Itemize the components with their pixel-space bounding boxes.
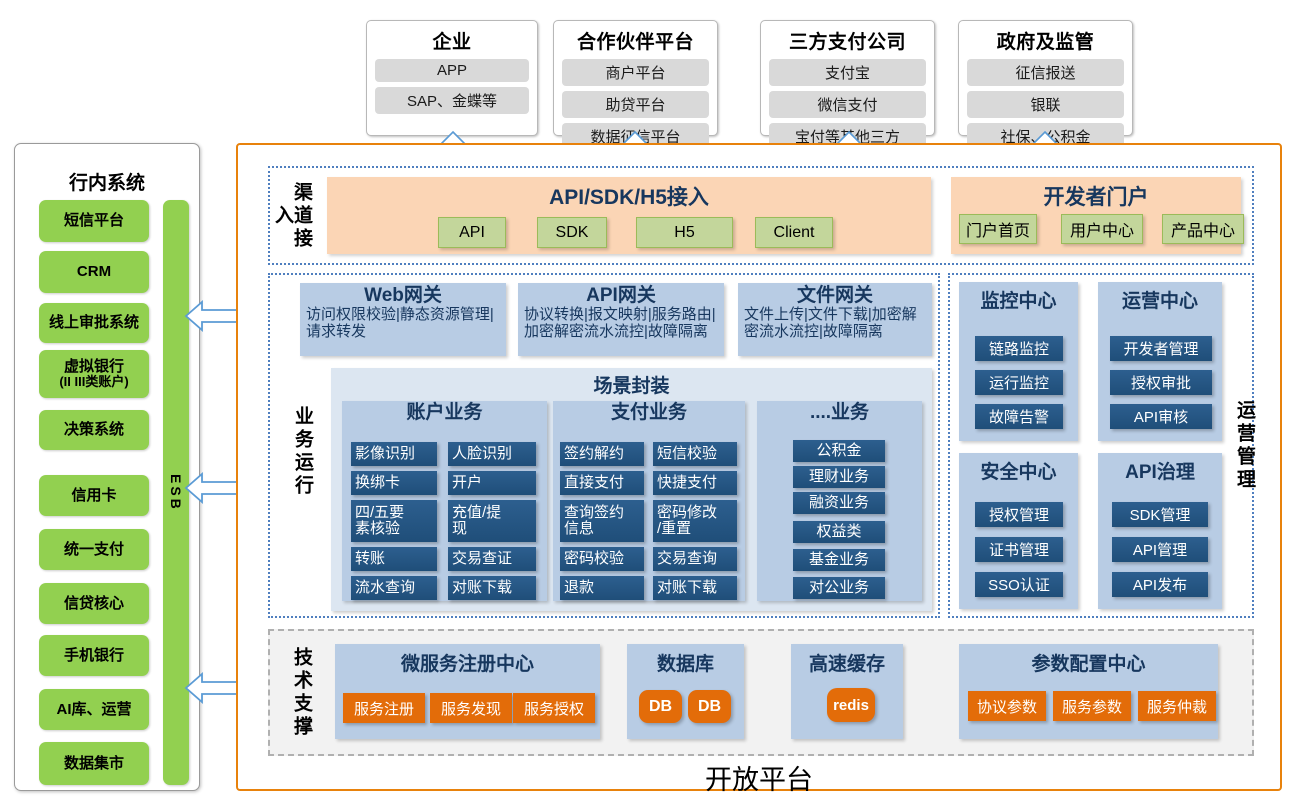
external-system-item: 支付宝 xyxy=(769,59,926,86)
bank-system-label: 虚拟银行 xyxy=(64,359,124,375)
business-chip-label: 权益类 xyxy=(816,524,861,540)
external-system-title: 三方支付公司 xyxy=(789,27,906,54)
tech-chip-label: 服务授权 xyxy=(524,698,584,719)
ops-chip-label: 故障告警 xyxy=(989,406,1049,427)
external-system-enterprise: 企业 APP SAP、金蝶等 xyxy=(366,20,538,136)
bank-system-label: AI库、运营 xyxy=(56,702,131,718)
business-chip[interactable]: 换绑卡 xyxy=(351,471,437,495)
gateway-desc: 访问权限校验|静态资源管理|请求转发 xyxy=(306,307,500,341)
bank-system-item[interactable]: 手机银行 xyxy=(39,635,149,676)
business-chip[interactable]: 密码校验 xyxy=(560,547,644,571)
business-chip[interactable]: 影像识别 xyxy=(351,442,437,466)
bank-system-label: 统一支付 xyxy=(64,542,124,558)
channel-chip-label: API xyxy=(459,224,485,242)
ops-card-title: 安全中心 xyxy=(959,453,1078,484)
business-chip[interactable]: 密码修改 /重置 xyxy=(653,500,737,542)
business-chip-label: 对公业务 xyxy=(809,580,869,596)
tech-chip-label: 服务注册 xyxy=(354,698,414,719)
tech-card-title: 微服务注册中心 xyxy=(335,644,600,676)
business-chip-label: 签约解约 xyxy=(564,446,624,462)
ops-chip-label: 开发者管理 xyxy=(1123,338,1198,359)
ops-chip-label: SSO认证 xyxy=(988,574,1050,595)
tech-chip[interactable]: 服务参数 xyxy=(1053,691,1131,721)
ops-chip-label: 链路监控 xyxy=(989,338,1049,359)
scene-encapsulation-title: 场景封装 xyxy=(331,368,932,398)
business-chip[interactable]: 理财业务 xyxy=(793,466,885,488)
business-chip[interactable]: 对公业务 xyxy=(793,577,885,599)
external-system-title: 企业 xyxy=(432,27,471,54)
architecture-diagram: 企业 APP SAP、金蝶等 合作伙伴平台 商户平台 助贷平台 数据征信平台 三… xyxy=(0,0,1299,799)
channel-chip-label: SDK xyxy=(556,224,589,242)
external-system-title: 政府及监管 xyxy=(997,27,1095,54)
business-chip[interactable]: 快捷支付 xyxy=(653,471,737,495)
tech-card-microservice-registry: 微服务注册中心 xyxy=(335,644,600,739)
business-group-title: ....业务 xyxy=(757,401,922,424)
portal-chip-home[interactable]: 门户首页 xyxy=(959,214,1037,244)
gateway-title: Web网关 xyxy=(306,286,500,307)
business-chip[interactable]: 公积金 xyxy=(793,440,885,462)
ops-management-label: 运营管理 xyxy=(1224,398,1254,493)
channel-access-label: 渠道接入 xyxy=(281,172,311,260)
db-label: DB xyxy=(649,698,672,716)
bank-system-item[interactable]: 线上审批系统 xyxy=(39,303,149,343)
ops-chip[interactable]: 证书管理 xyxy=(975,537,1063,562)
business-chip-label: 对账下载 xyxy=(657,580,717,596)
business-chip-label: 融资业务 xyxy=(809,495,869,511)
business-chip[interactable]: 对账下载 xyxy=(448,576,536,600)
bank-system-item[interactable]: 统一支付 xyxy=(39,529,149,570)
tech-card-title: 参数配置中心 xyxy=(959,644,1218,676)
redis-label: redis xyxy=(833,697,869,714)
external-system-item: APP xyxy=(375,59,529,82)
tech-card-title: 数据库 xyxy=(627,644,744,676)
business-chip[interactable]: 对账下载 xyxy=(653,576,737,600)
business-chip[interactable]: 退款 xyxy=(560,576,644,600)
business-chip-label: 快捷支付 xyxy=(657,475,717,491)
ops-chip[interactable]: 故障告警 xyxy=(975,404,1063,429)
ops-chip-label: SDK管理 xyxy=(1130,504,1191,525)
ops-chip-label: 证书管理 xyxy=(989,539,1049,560)
bank-system-sublabel: (II III类账户) xyxy=(59,375,128,389)
external-system-item: 商户平台 xyxy=(562,59,709,86)
bank-system-item[interactable]: CRM xyxy=(39,251,149,293)
portal-chip-label: 门户首页 xyxy=(966,217,1030,241)
bank-system-item[interactable]: AI库、运营 xyxy=(39,689,149,730)
bank-system-label: 信贷核心 xyxy=(64,596,124,612)
bank-system-item[interactable]: 决策系统 xyxy=(39,410,149,450)
tech-support-label: 技术支撑 xyxy=(281,640,311,745)
business-chip-label: 理财业务 xyxy=(809,469,869,485)
business-chip[interactable]: 签约解约 xyxy=(560,442,644,466)
bank-system-label: 线上审批系统 xyxy=(49,315,139,331)
external-system-item: 银联 xyxy=(967,91,1124,118)
bank-system-label: 信用卡 xyxy=(71,488,116,504)
gateway-api: API网关 协议转换|报文映射|服务路由|加密解密流水流控|故障隔离 xyxy=(518,283,724,356)
page-title: 开放平台 xyxy=(236,758,1282,797)
portal-chip-product-center[interactable]: 产品中心 xyxy=(1162,214,1244,244)
external-system-partner-platform: 合作伙伴平台 商户平台 助贷平台 数据征信平台 xyxy=(553,20,718,136)
business-chip-label: 交易查证 xyxy=(452,551,512,567)
business-chip[interactable]: 人脸识别 xyxy=(448,442,536,466)
database-icon[interactable]: DB xyxy=(639,690,682,723)
bank-system-item[interactable]: 虚拟银行 (II III类账户) xyxy=(39,350,149,398)
channel-chip-client[interactable]: Client xyxy=(755,217,833,248)
tech-chip[interactable]: 服务发现 xyxy=(430,693,512,723)
business-chip-label: 人脸识别 xyxy=(452,446,512,462)
external-system-item: 微信支付 xyxy=(769,91,926,118)
tech-chip[interactable]: 服务授权 xyxy=(513,693,595,723)
ops-chip-label: API审核 xyxy=(1134,406,1188,427)
tech-chip[interactable]: 服务仲裁 xyxy=(1138,691,1216,721)
bank-system-item[interactable]: 信用卡 xyxy=(39,475,149,516)
business-chip-label: 退款 xyxy=(564,580,594,596)
business-chip[interactable]: 基金业务 xyxy=(793,549,885,571)
business-chip-label: 四/五要 素核验 xyxy=(355,505,404,537)
bank-system-label: 短信平台 xyxy=(64,213,124,229)
gateway-title: 文件网关 xyxy=(744,286,926,307)
ops-chip-label: API发布 xyxy=(1133,574,1187,595)
bank-internal-systems-panel: 行内系统 短信平台 CRM 线上审批系统 虚拟银行 (II III类账户) 决策… xyxy=(14,143,200,791)
external-system-title: 合作伙伴平台 xyxy=(577,27,694,54)
channel-chip-label: H5 xyxy=(674,224,694,242)
gateway-file: 文件网关 文件上传|文件下载|加密解密流水流控|故障隔离 xyxy=(738,283,932,356)
gateway-desc: 协议转换|报文映射|服务路由|加密解密流水流控|故障隔离 xyxy=(524,307,718,341)
business-chip-label: 转账 xyxy=(355,551,385,567)
bank-system-label: 手机银行 xyxy=(64,648,124,664)
bank-system-label: 数据集市 xyxy=(64,756,124,772)
business-chip-label: 密码修改 /重置 xyxy=(657,505,717,537)
portal-chip-user-center[interactable]: 用户中心 xyxy=(1061,214,1143,244)
business-chip-label: 影像识别 xyxy=(355,446,415,462)
ops-chip[interactable]: 授权审批 xyxy=(1110,370,1212,395)
business-group-title: 支付业务 xyxy=(553,401,745,424)
channel-chip-api[interactable]: API xyxy=(438,217,506,248)
business-chip[interactable]: 转账 xyxy=(351,547,437,571)
business-chip-label: 换绑卡 xyxy=(355,475,400,491)
database-icon[interactable]: DB xyxy=(688,690,731,723)
bank-system-label: 决策系统 xyxy=(64,422,124,438)
business-chip[interactable]: 交易查证 xyxy=(448,547,536,571)
channel-chip-label: Client xyxy=(774,224,815,242)
ops-chip[interactable]: API审核 xyxy=(1110,404,1212,429)
business-chip[interactable]: 直接支付 xyxy=(560,471,644,495)
business-chip[interactable]: 开户 xyxy=(448,471,536,495)
business-chip-label: 密码校验 xyxy=(564,551,624,567)
ops-chip[interactable]: SDK管理 xyxy=(1112,502,1208,527)
business-run-label: 业务运行 xyxy=(282,404,312,499)
business-chip[interactable]: 查询签约 信息 xyxy=(560,500,644,542)
developer-portal-title: 开发者门户 xyxy=(951,177,1241,211)
ops-chip[interactable]: API发布 xyxy=(1112,572,1208,597)
tech-chip-label: 服务仲裁 xyxy=(1147,696,1207,717)
business-chip-label: 对账下载 xyxy=(452,580,512,596)
tech-card-title: 高速缓存 xyxy=(791,644,903,676)
business-chip[interactable]: 融资业务 xyxy=(793,492,885,514)
portal-chip-label: 用户中心 xyxy=(1070,217,1134,241)
gateway-desc: 文件上传|文件下载|加密解密流水流控|故障隔离 xyxy=(744,307,926,341)
business-chip[interactable]: 流水查询 xyxy=(351,576,437,600)
redis-icon[interactable]: redis xyxy=(827,688,875,722)
db-label: DB xyxy=(698,698,721,716)
external-system-item: SAP、金蝶等 xyxy=(375,87,529,114)
bank-panel-title: 行内系统 xyxy=(15,168,199,195)
business-chip-label: 开户 xyxy=(452,475,482,491)
ops-chip-label: API管理 xyxy=(1133,539,1187,560)
business-chip[interactable]: 四/五要 素核验 xyxy=(351,500,437,542)
api-sdk-h5-access-panel: API/SDK/H5接入 xyxy=(327,177,931,254)
ops-chip-label: 授权审批 xyxy=(1131,372,1191,393)
business-chip-label: 公积金 xyxy=(816,443,861,459)
ops-card-title: API治理 xyxy=(1098,453,1222,484)
external-system-item: 助贷平台 xyxy=(562,91,709,118)
esb-label: ESB xyxy=(169,474,183,512)
business-chip-label: 短信校验 xyxy=(657,446,717,462)
bank-system-item[interactable]: 短信平台 xyxy=(39,200,149,242)
tech-chip[interactable]: 协议参数 xyxy=(968,691,1046,721)
ops-chip[interactable]: 开发者管理 xyxy=(1110,336,1212,361)
bank-system-label: CRM xyxy=(77,264,111,280)
api-sdk-h5-access-title: API/SDK/H5接入 xyxy=(327,177,931,211)
ops-chip[interactable]: 链路监控 xyxy=(975,336,1063,361)
business-chip-label: 充值/提 现 xyxy=(452,505,501,537)
gateway-web: Web网关 访问权限校验|静态资源管理|请求转发 xyxy=(300,283,506,356)
channel-chip-sdk[interactable]: SDK xyxy=(537,217,607,248)
ops-chip-label: 授权管理 xyxy=(989,504,1049,525)
business-group-title: 账户业务 xyxy=(342,401,547,424)
ops-chip[interactable]: SSO认证 xyxy=(975,572,1063,597)
tech-chip-label: 协议参数 xyxy=(977,696,1037,717)
business-chip[interactable]: 权益类 xyxy=(793,521,885,543)
portal-chip-label: 产品中心 xyxy=(1171,217,1235,241)
external-system-item: 征信报送 xyxy=(967,59,1124,86)
business-chip-label: 查询签约 信息 xyxy=(564,505,624,537)
business-chip[interactable]: 交易查询 xyxy=(653,547,737,571)
tech-chip-label: 服务发现 xyxy=(441,698,501,719)
ops-chip[interactable]: 授权管理 xyxy=(975,502,1063,527)
business-chip-label: 基金业务 xyxy=(809,552,869,568)
ops-chip-label: 运行监控 xyxy=(989,372,1049,393)
tech-chip-label: 服务参数 xyxy=(1062,696,1122,717)
business-chip[interactable]: 充值/提 现 xyxy=(448,500,536,542)
external-system-government-regulator: 政府及监管 征信报送 银联 社保、公积金 xyxy=(958,20,1133,136)
business-chip[interactable]: 短信校验 xyxy=(653,442,737,466)
external-system-third-party-payment: 三方支付公司 支付宝 微信支付 宝付等其他三方 xyxy=(760,20,935,136)
ops-chip[interactable]: 运行监控 xyxy=(975,370,1063,395)
bank-system-item[interactable]: 数据集市 xyxy=(39,742,149,785)
channel-chip-h5[interactable]: H5 xyxy=(636,217,733,248)
business-chip-label: 交易查询 xyxy=(657,551,717,567)
tech-chip[interactable]: 服务注册 xyxy=(343,693,425,723)
bank-system-item[interactable]: 信贷核心 xyxy=(39,583,149,624)
gateway-title: API网关 xyxy=(524,286,718,307)
ops-chip[interactable]: API管理 xyxy=(1112,537,1208,562)
ops-card-title: 运营中心 xyxy=(1098,282,1222,313)
ops-card-title: 监控中心 xyxy=(959,282,1078,313)
business-chip-label: 流水查询 xyxy=(355,580,415,596)
business-chip-label: 直接支付 xyxy=(564,475,624,491)
